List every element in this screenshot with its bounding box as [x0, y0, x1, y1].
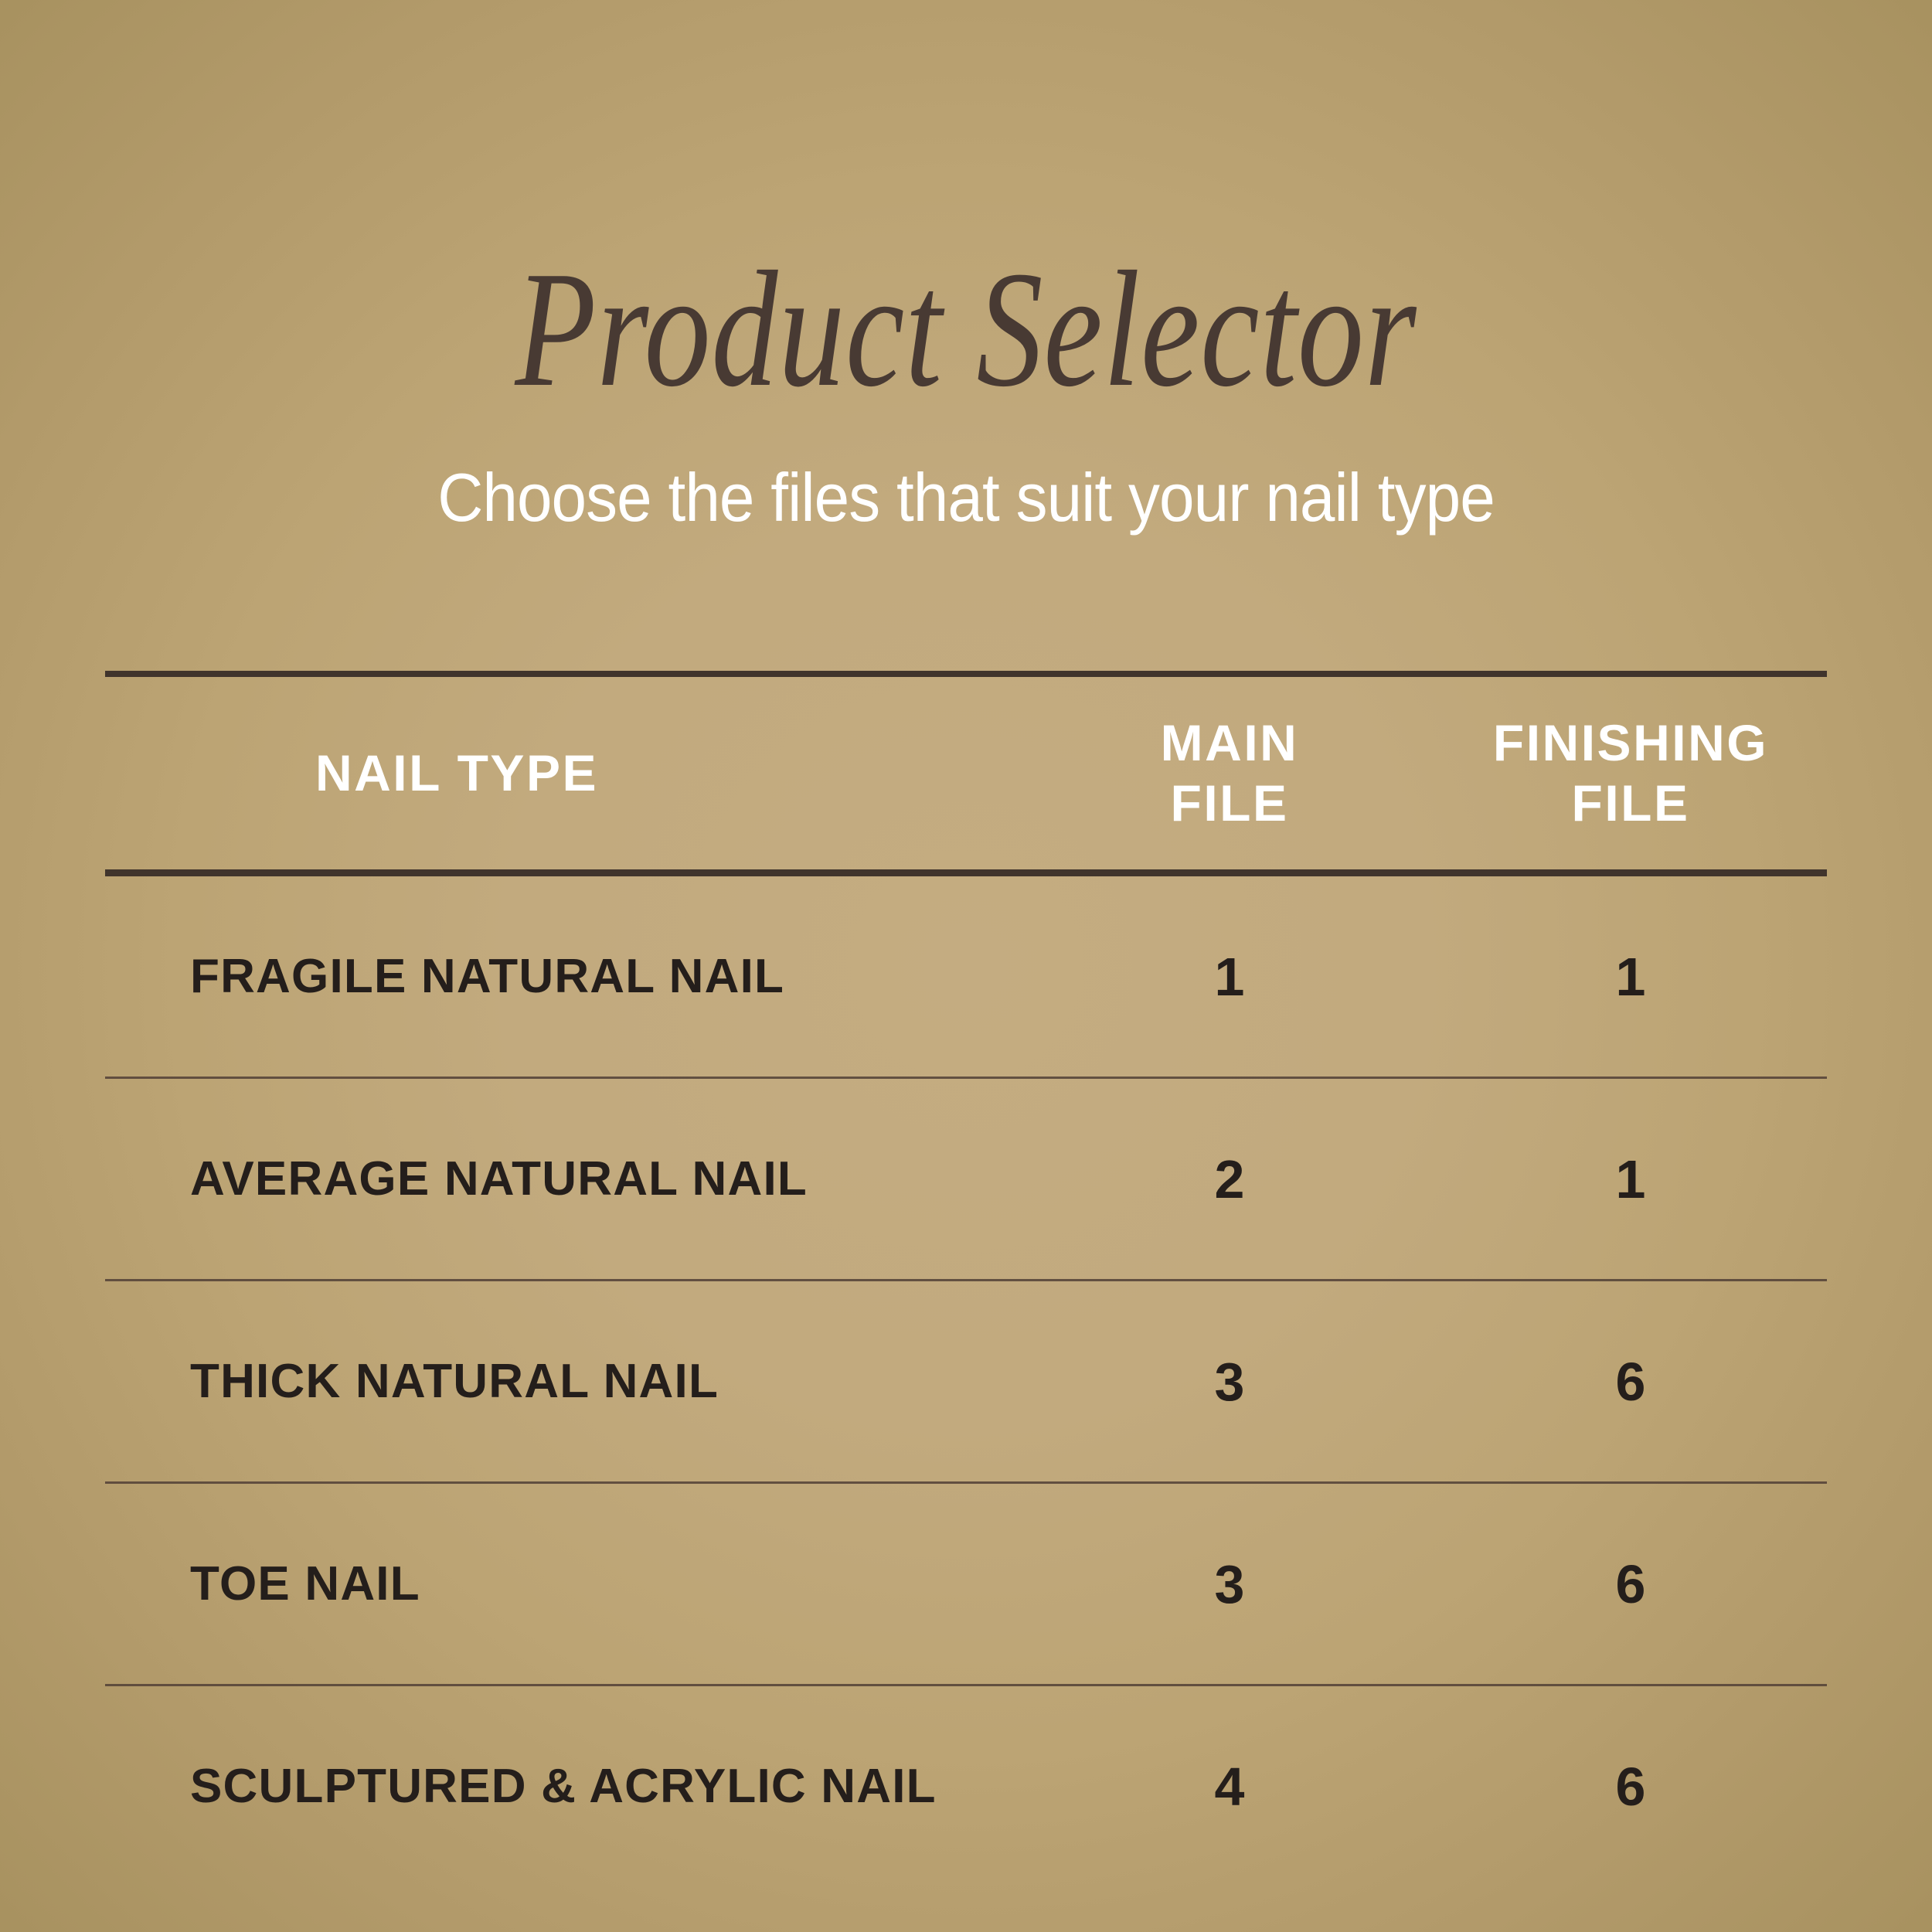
page-title: Product Selector [193, 246, 1739, 412]
column-header-nail-type: NAIL TYPE [105, 743, 1025, 804]
cell-finishing-file: 6 [1434, 1760, 1827, 1814]
page-subtitle: Choose the files that suit your nail typ… [68, 464, 1865, 532]
cell-main-file: 4 [1025, 1760, 1434, 1814]
row-divider [105, 1684, 1827, 1686]
cell-nail-type: TOE NAIL [105, 1560, 1025, 1608]
row-divider [105, 1279, 1827, 1281]
cell-main-file: 1 [1025, 950, 1434, 1004]
cell-nail-type: FRAGILE NATURAL NAIL [105, 953, 1025, 1001]
table-row: SCULPTURED & ACRYLIC NAIL 4 6 [105, 1686, 1827, 1886]
cell-finishing-file: 6 [1434, 1355, 1827, 1409]
table-row: TOE NAIL 3 6 [105, 1484, 1827, 1684]
column-header-main-file: MAIN FILE [1025, 713, 1434, 834]
table-header-rule [105, 869, 1827, 876]
table-row: FRAGILE NATURAL NAIL 1 1 [105, 876, 1827, 1077]
cell-finishing-file: 6 [1434, 1557, 1827, 1611]
cell-nail-type: SCULPTURED & ACRYLIC NAIL [105, 1763, 1025, 1811]
cell-nail-type: AVERAGE NATURAL NAIL [105, 1155, 1025, 1203]
cell-nail-type: THICK NATURAL NAIL [105, 1358, 1025, 1406]
product-selector-poster: Product Selector Choose the files that s… [0, 0, 1932, 1932]
cell-finishing-file: 1 [1434, 1152, 1827, 1206]
cell-main-file: 3 [1025, 1557, 1434, 1611]
cell-finishing-file: 1 [1434, 950, 1827, 1004]
table-row: THICK NATURAL NAIL 3 6 [105, 1281, 1827, 1481]
product-selector-table: NAIL TYPE MAIN FILE FINISHING FILE FRAGI… [105, 671, 1827, 1886]
cell-main-file: 2 [1025, 1152, 1434, 1206]
row-divider [105, 1077, 1827, 1079]
table-row: AVERAGE NATURAL NAIL 2 1 [105, 1079, 1827, 1279]
cell-main-file: 3 [1025, 1355, 1434, 1409]
column-header-finishing-file: FINISHING FILE [1434, 713, 1827, 834]
table-header-row: NAIL TYPE MAIN FILE FINISHING FILE [105, 677, 1827, 869]
table-top-rule [105, 671, 1827, 677]
row-divider [105, 1481, 1827, 1484]
